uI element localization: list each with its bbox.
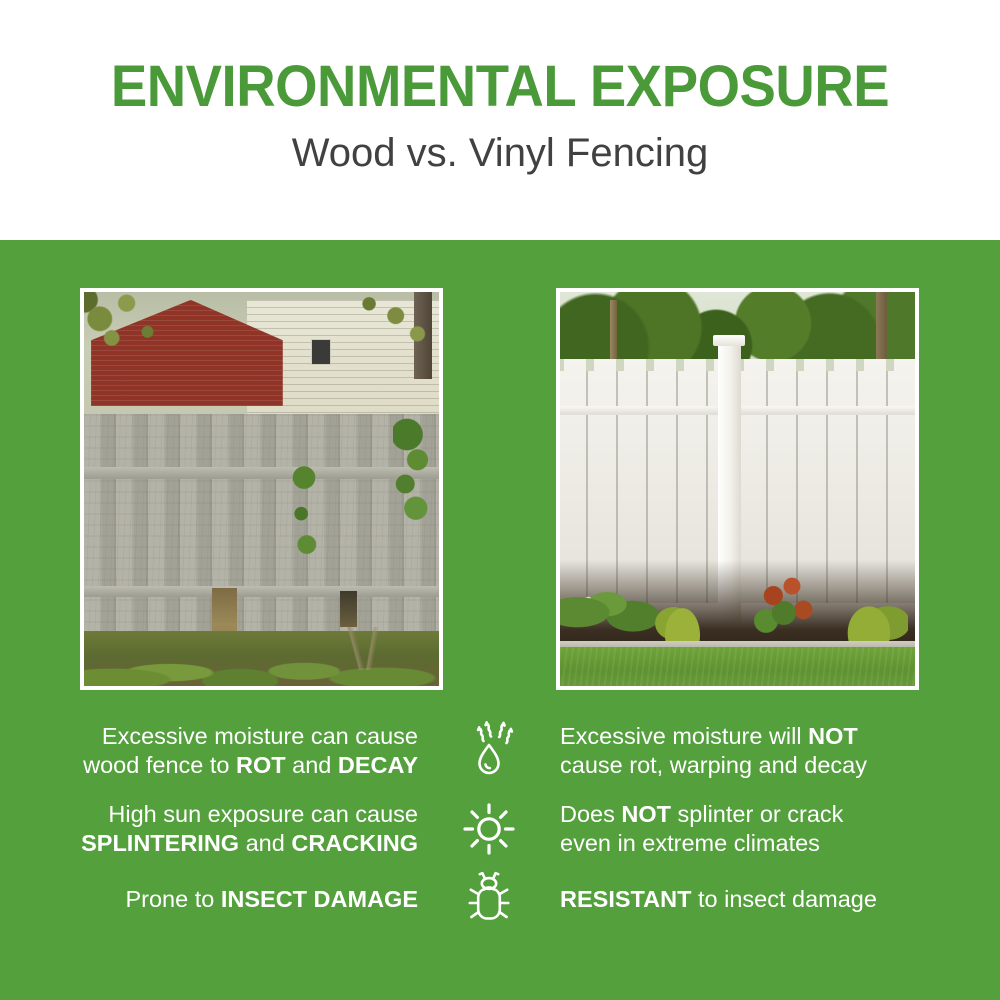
wood-column-cell: High sun exposure can cause SPLINTERING …	[0, 800, 430, 858]
header: ENVIRONMENTAL EXPOSURE Wood vs. Vinyl Fe…	[0, 0, 1000, 240]
wood-column-cell: Excessive moisture can cause wood fence …	[0, 722, 430, 780]
wood-statement-sun: High sun exposure can cause SPLINTERING …	[0, 800, 418, 858]
vinyl-statement-moisture: Excessive moisture will NOTcause rot, wa…	[560, 722, 978, 780]
fence-section-top	[84, 414, 439, 469]
row-icon-cell	[430, 870, 548, 928]
wood-column-cell: Prone to INSECT DAMAGE	[0, 885, 430, 914]
sun-icon	[461, 801, 517, 857]
row-icon-cell	[430, 720, 548, 782]
fence-rail	[84, 467, 439, 479]
comparison-rows: Excessive moisture can cause wood fence …	[0, 712, 1000, 930]
vinyl-column-cell: Does NOT splinter or crackeven in extrem…	[548, 800, 978, 858]
photo-vine-right	[393, 418, 429, 528]
vinyl-fence-photo	[556, 288, 919, 690]
page-subtitle: Wood vs. Vinyl Fencing	[292, 133, 709, 173]
vinyl-post-cap	[713, 335, 745, 346]
photo-vine-center	[290, 457, 318, 559]
infographic-page: ENVIRONMENTAL EXPOSURE Wood vs. Vinyl Fe…	[0, 0, 1000, 1000]
photo-ornamental-grass	[652, 588, 712, 647]
fence-section-middle	[84, 469, 439, 587]
moisture-droplet-icon	[461, 720, 517, 782]
photo-shrub	[560, 572, 663, 639]
vinyl-statement-sun: Does NOT splinter or crackeven in extrem…	[560, 800, 978, 858]
wood-fence-photo	[80, 288, 443, 690]
photo-foliage-left	[84, 292, 219, 371]
photo-tree-trunk	[876, 292, 887, 363]
fence-rail	[84, 586, 439, 598]
vinyl-statement-insects: RESISTANT to insect damage	[560, 885, 978, 914]
comparison-row: Prone to INSECT DAMAGE	[0, 868, 1000, 930]
photo-lawn-texture	[560, 647, 915, 686]
vinyl-column-cell: RESISTANT to insect damage	[548, 885, 978, 914]
wood-statement-insects: Prone to INSECT DAMAGE	[0, 885, 418, 914]
photo-ornamental-grass	[837, 584, 908, 647]
insect-bug-icon	[463, 870, 515, 928]
photo-tree-trunk	[610, 300, 617, 363]
photo-flowering-shrub	[745, 564, 827, 643]
wood-statement-moisture: Excessive moisture can cause wood fence …	[0, 722, 418, 780]
photo-fallen-branch	[283, 627, 439, 670]
page-title: ENVIRONMENTAL EXPOSURE	[111, 58, 889, 116]
comparison-row: Excessive moisture can cause wood fence …	[0, 712, 1000, 790]
vinyl-column-cell: Excessive moisture will NOTcause rot, wa…	[548, 722, 978, 780]
photo-foliage-right	[311, 292, 432, 367]
comparison-row: High sun exposure can cause SPLINTERING …	[0, 790, 1000, 868]
row-icon-cell	[430, 801, 548, 857]
